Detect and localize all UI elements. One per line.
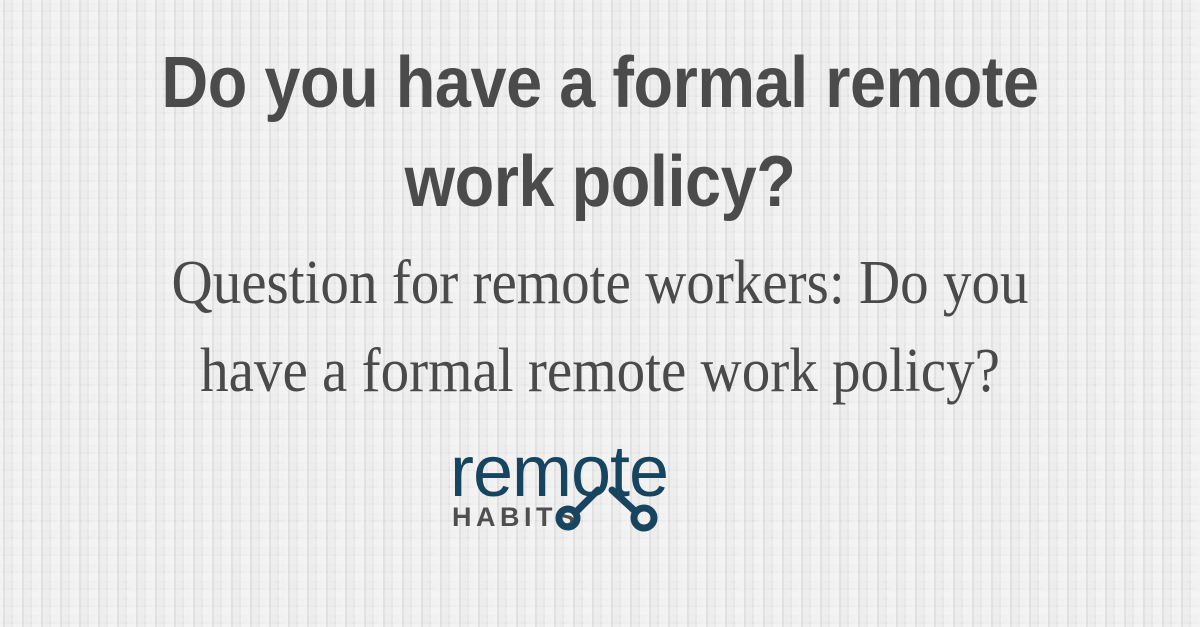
- remote-habits-logo-svg: remote HABITS: [440, 434, 760, 538]
- page-subtitle: Question for remote workers: Do you have…: [131, 239, 1069, 416]
- card-content: Do you have a formal remote work policy?…: [0, 0, 1200, 538]
- network-node-right: [634, 508, 654, 528]
- page-title: Do you have a formal remote work policy?: [150, 34, 1050, 233]
- social-share-card: Do you have a formal remote work policy?…: [0, 0, 1200, 627]
- logo-wordmark-text: remote: [450, 434, 668, 512]
- brand-logo[interactable]: remote HABITS: [440, 434, 760, 538]
